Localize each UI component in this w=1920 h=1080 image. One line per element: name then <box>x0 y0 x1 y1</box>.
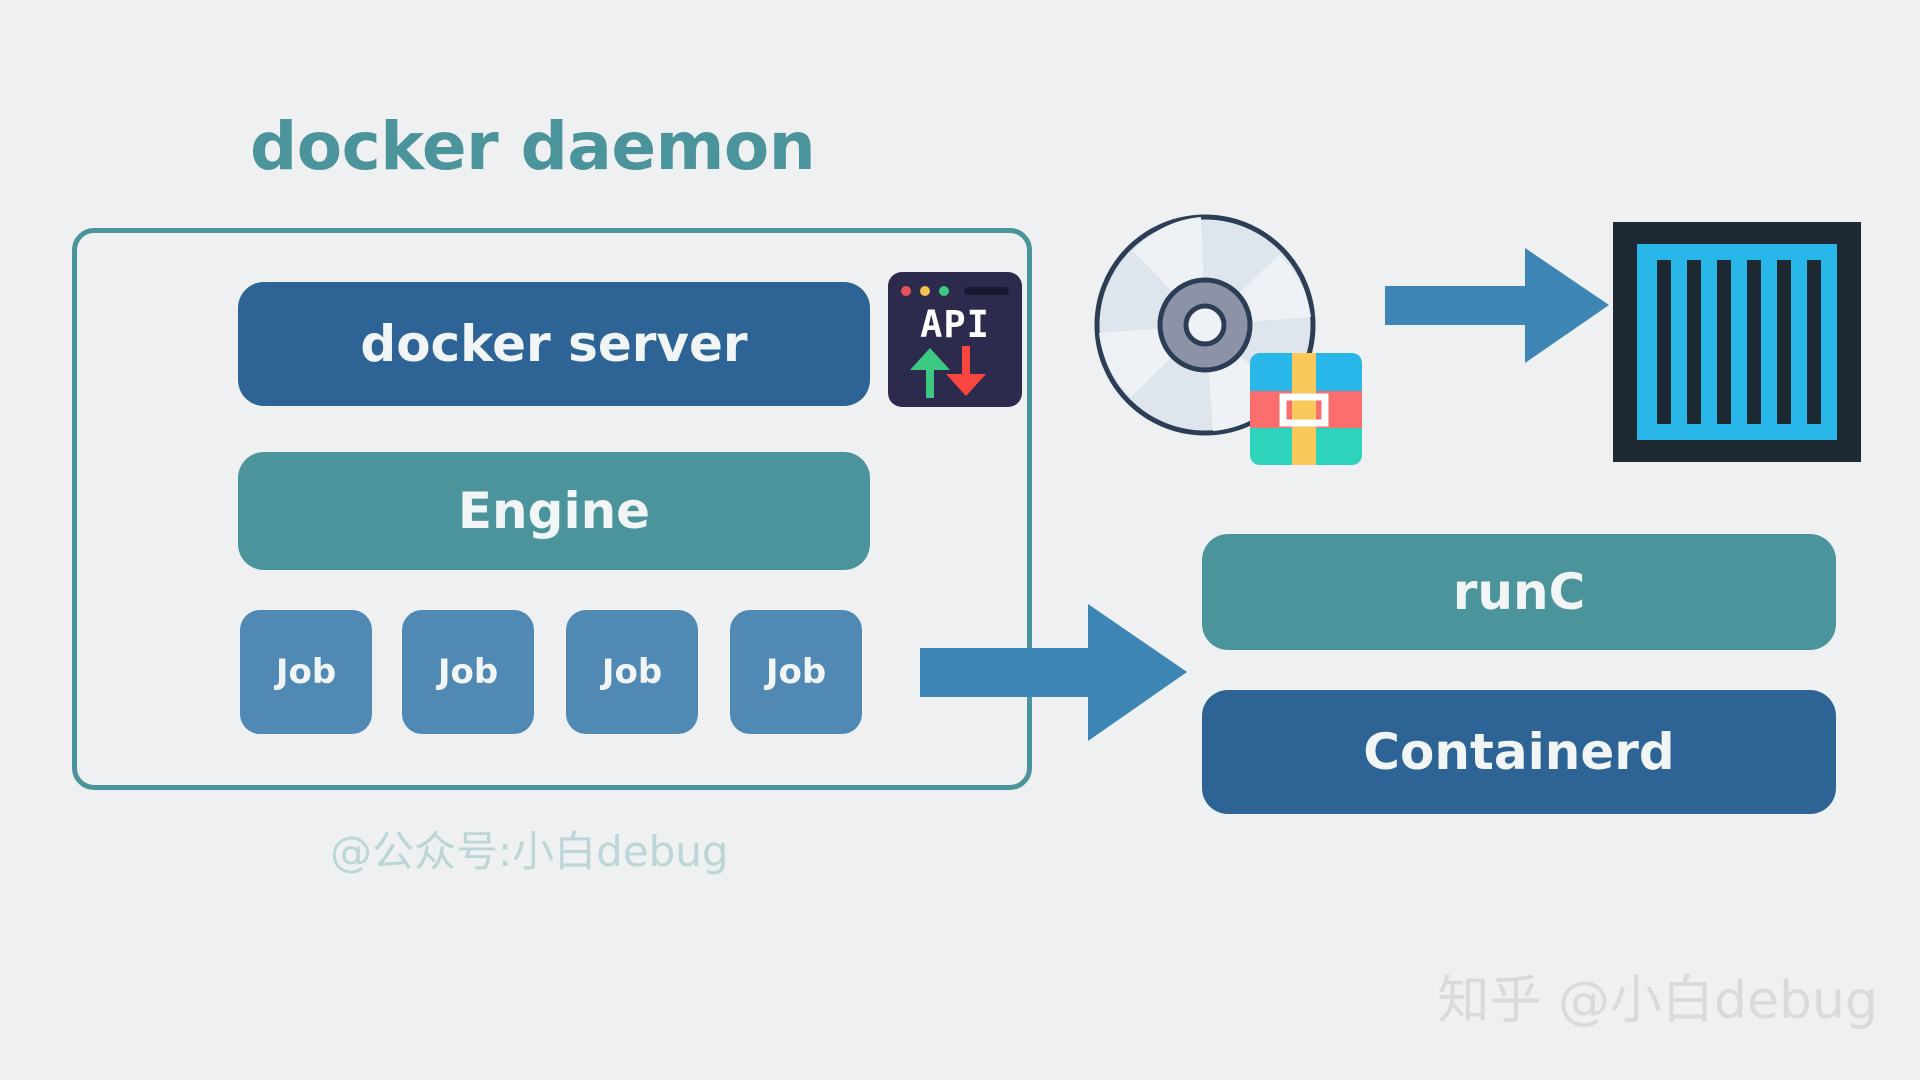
job-label: Job <box>276 652 336 692</box>
window-dot-yellow-icon <box>920 286 930 296</box>
api-updown-arrows-icon <box>900 346 1012 398</box>
engine-box[interactable]: Engine <box>238 452 870 570</box>
api-icon: API <box>888 272 1022 407</box>
watermark-wechat: @公众号:小白debug <box>330 818 729 879</box>
window-dot-green-icon <box>939 286 949 296</box>
watermark-zhihu: 知乎 @小白debug <box>1437 958 1878 1033</box>
docker-server-label: docker server <box>360 315 747 373</box>
containerd-box[interactable]: Containerd <box>1202 690 1836 814</box>
job-label: Job <box>438 652 498 692</box>
job-label: Job <box>602 652 662 692</box>
arrow-daemon-to-runtime <box>920 604 1187 741</box>
docker-server-box[interactable]: docker server <box>238 282 870 406</box>
job-label: Job <box>766 652 826 692</box>
job-box-4[interactable]: Job <box>730 610 862 734</box>
window-dot-red-icon <box>901 286 911 296</box>
engine-label: Engine <box>458 482 650 540</box>
shipping-container-icon <box>1613 222 1861 462</box>
window-address-bar <box>964 287 1009 295</box>
arrow-image-to-container <box>1385 248 1609 363</box>
package-archive-icon <box>1250 353 1362 465</box>
runc-label: runC <box>1453 563 1586 621</box>
containerd-label: Containerd <box>1363 723 1674 781</box>
job-box-3[interactable]: Job <box>566 610 698 734</box>
api-label: API <box>888 303 1022 346</box>
job-box-2[interactable]: Job <box>402 610 534 734</box>
diagram-canvas: docker daemon docker server Engine Job J… <box>0 0 1920 1080</box>
page-title: docker daemon <box>250 108 815 185</box>
runc-box[interactable]: runC <box>1202 534 1836 650</box>
job-box-1[interactable]: Job <box>240 610 372 734</box>
